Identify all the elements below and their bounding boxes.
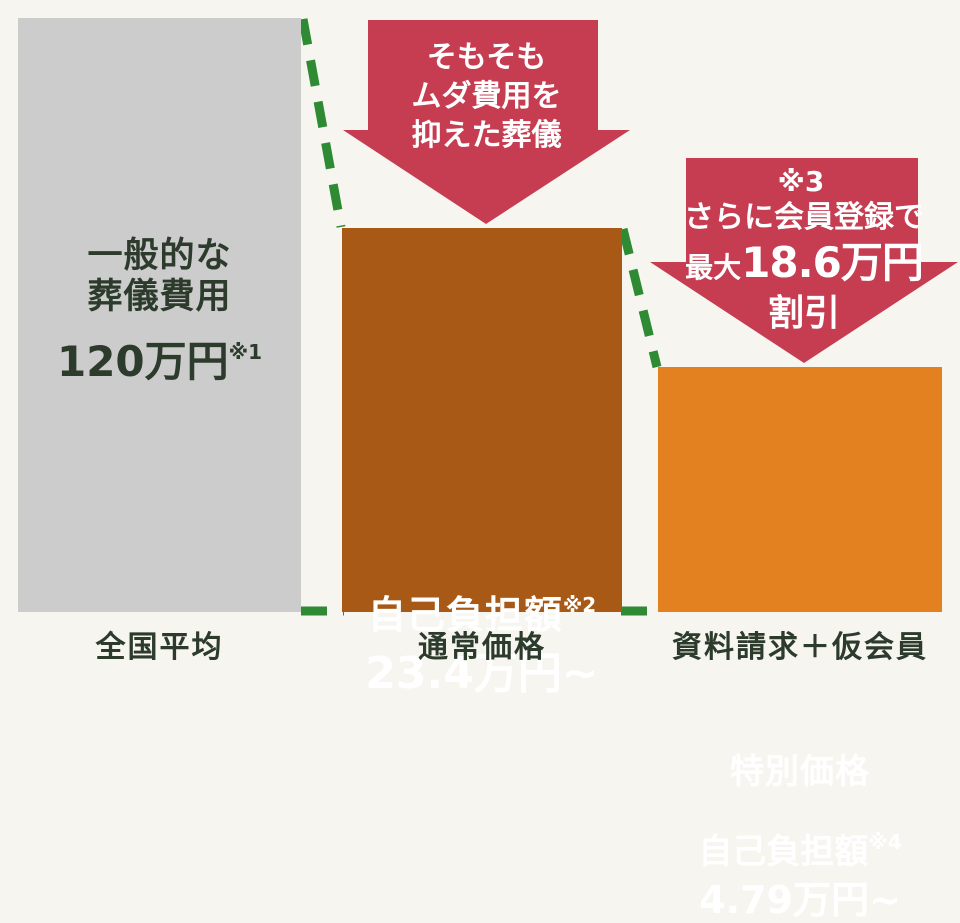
bar-average-footnote-mark: ※1 (229, 340, 262, 364)
bar-special-text: 特別価格 自己負担額※4 4.79万円~ (658, 752, 942, 923)
axis-label-national-average: 全国平均 (18, 622, 301, 666)
callout-discount-prefix: 最大 (685, 251, 741, 284)
bar-special-footnote-mark: ※4 (868, 830, 901, 854)
bar-average-title-line2: 葬儀費用 (18, 277, 301, 318)
callout-waste-reduction: そもそも ムダ費用を 抑えた葬儀 (343, 20, 630, 224)
callout-waste-line2: ムダ費用を (343, 77, 630, 116)
bar-regular-price: 自己負担額※2 23.4万円~ (342, 228, 622, 612)
callout-member-discount: ※3 さらに会員登録で 最大18.6万円 割引 (650, 158, 958, 364)
bar-average-title-line1: 一般的な (18, 236, 301, 277)
bar-average-text: 一般的な 葬儀費用 120万円※1 (18, 236, 301, 386)
callout-waste-text: そもそも ムダ費用を 抑えた葬儀 (343, 38, 630, 155)
axis-label-special-price: 資料請求＋仮会員 (650, 622, 950, 666)
bar-special-subtitle-row: 自己負担額※4 (658, 832, 942, 872)
funeral-cost-comparison-chart: 一般的な 葬儀費用 120万円※1 自己負担額※2 23.4万円~ 特別価格 自… (0, 0, 960, 679)
bar-national-average: 一般的な 葬儀費用 120万円※1 (18, 18, 301, 612)
callout-discount-amount: 18.6万円 (741, 238, 923, 287)
bar-special-amount: 4.79万円~ (658, 878, 942, 923)
bar-average-amount: 120万円 (57, 337, 229, 386)
bar-special-title: 特別価格 (658, 752, 942, 792)
callout-discount-text: ※3 さらに会員登録で 最大18.6万円 割引 (650, 164, 958, 336)
callout-waste-line3: 抑えた葬儀 (343, 116, 630, 155)
dash-segment-average-to-regular (303, 19, 341, 227)
callout-discount-line4: 割引 (650, 291, 958, 336)
callout-discount-line2: さらに会員登録で (650, 199, 958, 237)
bar-special-subtitle: 自己負担額 (698, 832, 868, 872)
callout-discount-footnote-mark: ※3 (650, 164, 958, 199)
bar-special-price: 特別価格 自己負担額※4 4.79万円~ (658, 367, 942, 612)
bar-average-amount-row: 120万円※1 (18, 337, 301, 387)
axis-label-regular-price: 通常価格 (342, 622, 622, 666)
callout-waste-line1: そもそも (343, 38, 630, 77)
callout-discount-line3: 最大18.6万円 (650, 237, 958, 290)
bar-regular-footnote-mark: ※2 (563, 593, 596, 617)
